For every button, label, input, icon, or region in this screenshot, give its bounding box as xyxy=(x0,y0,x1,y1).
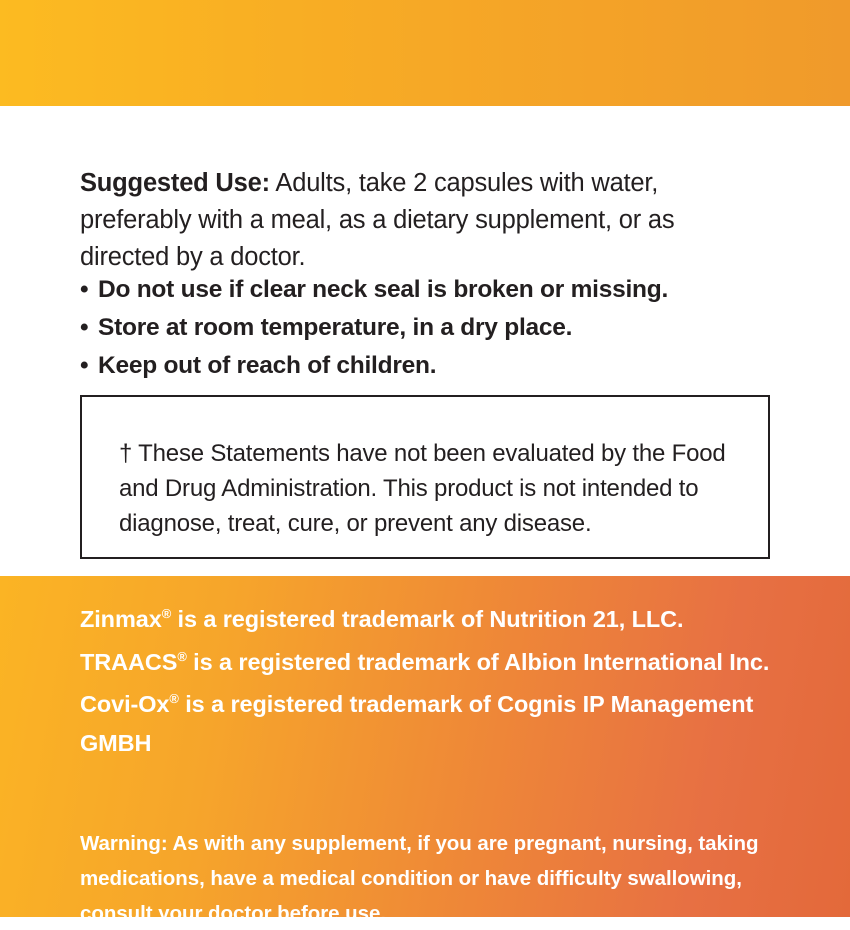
list-item: •Store at room temperature, in a dry pla… xyxy=(80,309,780,347)
fda-disclaimer-text: † These Statements have not been evaluat… xyxy=(119,436,749,541)
bullet-icon: • xyxy=(80,309,98,347)
trademark-notice-coviox: Covi-Ox® is a registered trademark of Co… xyxy=(80,685,820,762)
trademark-brand: Covi-Ox xyxy=(80,691,169,717)
suggested-use-paragraph: Suggested Use: Adults, take 2 capsules w… xyxy=(80,165,770,276)
trademark-text: is a registered trademark of Cognis IP M… xyxy=(80,691,753,756)
white-body-section: Suggested Use: Adults, take 2 capsules w… xyxy=(0,106,850,576)
registered-mark-icon: ® xyxy=(162,606,171,621)
usage-bullet-list: •Do not use if clear neck seal is broken… xyxy=(80,271,780,385)
trademark-notice-traacs: TRAACS® is a registered trademark of Alb… xyxy=(80,643,820,682)
trademark-notices: Zinmax® is a registered trademark of Nut… xyxy=(80,600,820,766)
bullet-text: Keep out of reach of children. xyxy=(98,352,436,379)
bottom-white-strip xyxy=(0,917,850,930)
warning-label: Warning: xyxy=(80,832,168,855)
registered-mark-icon: ® xyxy=(177,649,186,664)
footer-gradient-band: Zinmax® is a registered trademark of Nut… xyxy=(0,576,850,917)
list-item: •Do not use if clear neck seal is broken… xyxy=(80,271,780,309)
trademark-brand: Zinmax xyxy=(80,606,162,632)
trademark-notice-zinmax: Zinmax® is a registered trademark of Nut… xyxy=(80,600,820,639)
bullet-text: Store at room temperature, in a dry plac… xyxy=(98,314,572,341)
suggested-use-label: Suggested Use: xyxy=(80,169,270,197)
bullet-icon: • xyxy=(80,271,98,309)
list-item: •Keep out of reach of children. xyxy=(80,347,780,385)
warning-text: As with any supplement, if you are pregn… xyxy=(80,832,758,918)
trademark-text: is a registered trademark of Nutrition 2… xyxy=(171,606,683,632)
trademark-text: is a registered trademark of Albion Inte… xyxy=(187,649,770,675)
registered-mark-icon: ® xyxy=(169,691,178,706)
supplement-label-panel: Suggested Use: Adults, take 2 capsules w… xyxy=(0,0,850,930)
warning-paragraph: Warning: As with any supplement, if you … xyxy=(80,826,800,918)
top-gradient-band xyxy=(0,0,850,106)
bullet-icon: • xyxy=(80,347,98,385)
fda-disclaimer-box: † These Statements have not been evaluat… xyxy=(80,395,770,559)
trademark-brand: TRAACS xyxy=(80,649,177,675)
bullet-text: Do not use if clear neck seal is broken … xyxy=(98,276,668,303)
